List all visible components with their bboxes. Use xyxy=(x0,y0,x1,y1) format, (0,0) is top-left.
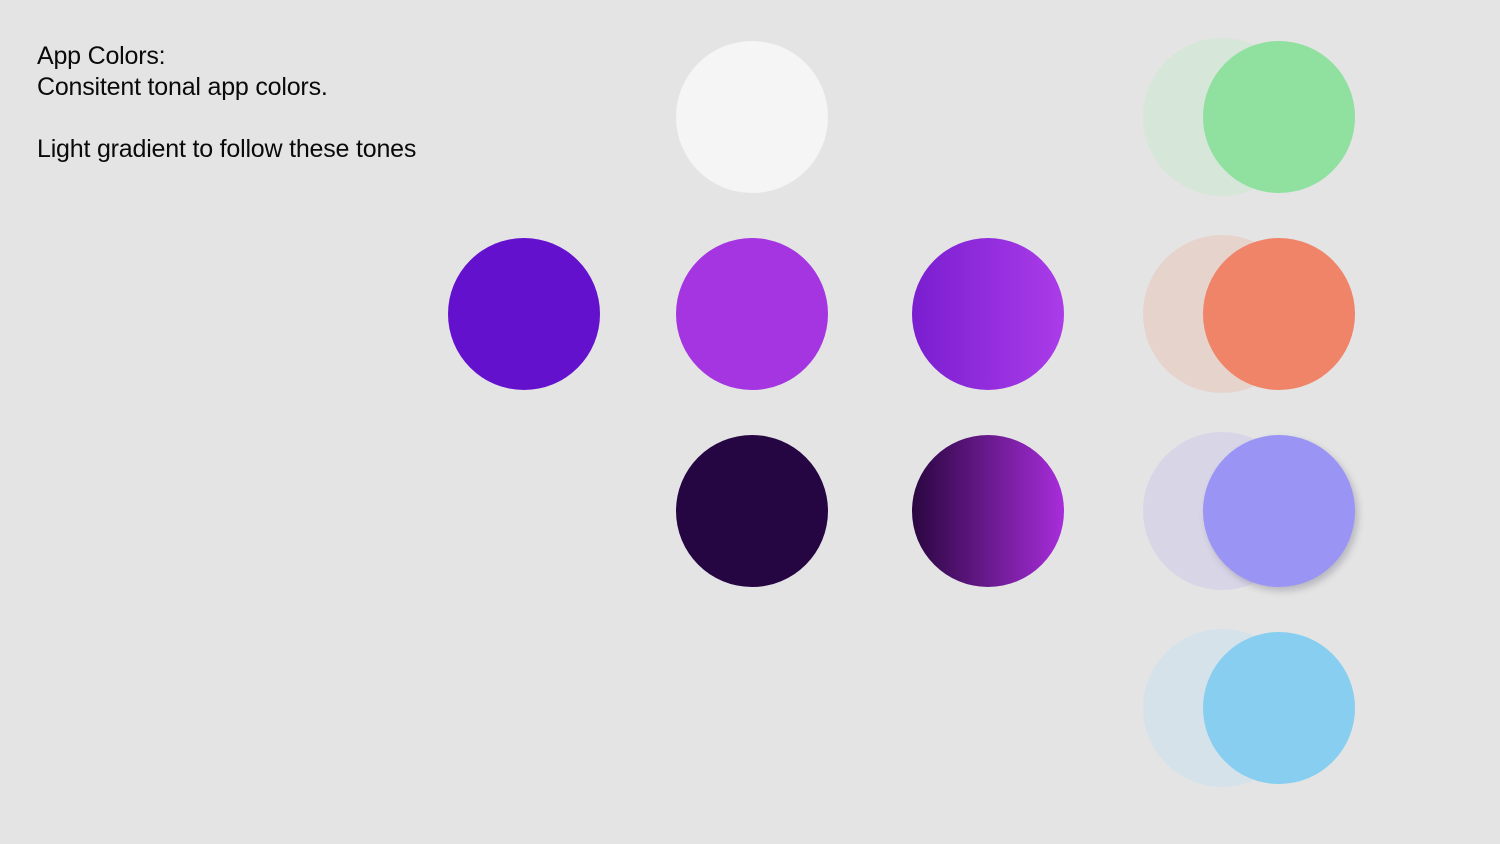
swatch-off-white-disc[interactable] xyxy=(676,41,828,193)
swatch-periwinkle-disc[interactable] xyxy=(1203,435,1355,587)
swatch-gradient-purple[interactable] xyxy=(912,238,1064,390)
swatch-salmon[interactable] xyxy=(1203,238,1355,390)
notes-gradient-note: Light gradient to follow these tones xyxy=(37,134,597,165)
notes-spacer xyxy=(37,103,597,134)
swatch-off-white[interactable] xyxy=(676,41,828,193)
swatch-sky-blue[interactable] xyxy=(1203,632,1355,784)
swatch-bright-purple-disc[interactable] xyxy=(676,238,828,390)
swatch-gradient-plum[interactable] xyxy=(912,435,1064,587)
color-palette-canvas: App Colors: Consitent tonal app colors. … xyxy=(0,0,1500,844)
swatch-gradient-plum-disc[interactable] xyxy=(912,435,1064,587)
swatch-salmon-disc[interactable] xyxy=(1203,238,1355,390)
swatch-dark-plum[interactable] xyxy=(676,435,828,587)
swatch-green-disc[interactable] xyxy=(1203,41,1355,193)
swatch-gradient-purple-disc[interactable] xyxy=(912,238,1064,390)
swatch-dark-plum-disc[interactable] xyxy=(676,435,828,587)
swatch-deep-violet-disc[interactable] xyxy=(448,238,600,390)
swatch-periwinkle[interactable] xyxy=(1203,435,1355,587)
swatch-green[interactable] xyxy=(1203,41,1355,193)
notes-title: App Colors: xyxy=(37,41,597,72)
notes-subtitle: Consitent tonal app colors. xyxy=(37,72,597,103)
notes-block: App Colors: Consitent tonal app colors. … xyxy=(37,41,597,165)
swatch-sky-blue-disc[interactable] xyxy=(1203,632,1355,784)
swatch-bright-purple[interactable] xyxy=(676,238,828,390)
swatch-deep-violet[interactable] xyxy=(448,238,600,390)
